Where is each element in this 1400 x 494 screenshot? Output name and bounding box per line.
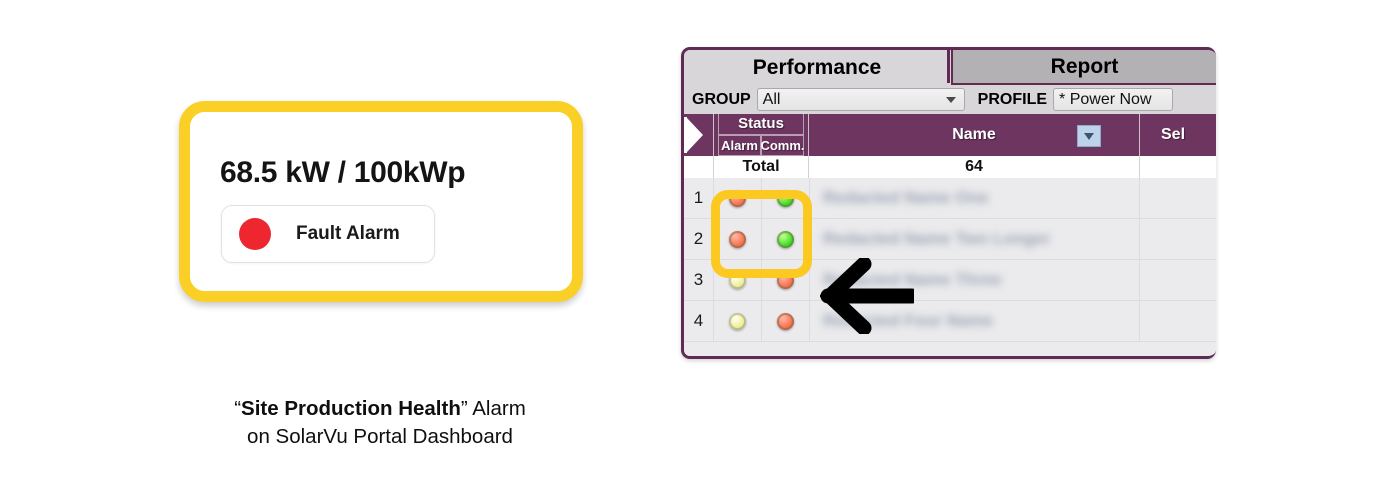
alarm-led-icon [729,190,746,207]
caption-left-suffix: Alarm [468,397,526,420]
site-name-redacted: Redacted Name One [823,188,988,208]
fault-alarm-label: Fault Alarm [296,223,400,245]
table-header-name[interactable]: Name [809,114,1140,156]
cell-comm-status[interactable] [762,219,810,259]
row-index: 1 [684,178,714,218]
group-label: GROUP [692,91,751,109]
profile-select[interactable]: * Power Now [1053,88,1173,111]
cell-alarm-status[interactable] [714,260,762,300]
portfolio-table: Status Alarm Comm. Name Sel Total 64 [684,114,1216,359]
group-select-value: All [763,91,781,109]
tab-strip: Performance Report [684,50,1216,85]
cell-alarm-status[interactable] [714,178,762,218]
enterprise-portfolio-figure: Performance Report GROUP All PROFILE * P… [700,0,1400,494]
comm-led-icon [777,231,794,248]
corner-flag-cell[interactable] [684,114,714,156]
cell-site-name[interactable]: Redacted Name One [809,178,1140,218]
comm-led-icon [777,313,794,330]
group-select[interactable]: All [757,88,965,111]
total-label: Total [714,156,809,178]
filter-bar: GROUP All PROFILE * Power Now [684,85,1216,114]
caption-left: “Site Production Health” Alarm on SolarV… [80,395,680,451]
cell-select[interactable] [1140,260,1216,300]
cell-select[interactable] [1140,301,1216,341]
solarvu-dashboard-figure: 68.5 kW / 100kWp Fault Alarm “Site Produ… [0,0,700,494]
chevron-down-icon [946,97,956,103]
total-count: 64 [809,156,1140,178]
name-filter-button[interactable] [1077,125,1101,147]
portfolio-panel: Performance Report GROUP All PROFILE * P… [681,47,1216,359]
power-readout: 68.5 kW / 100kWp [220,156,465,190]
alarm-led-icon [729,313,746,330]
site-name-redacted: Redacted Name Two Longer [823,229,1050,249]
chevron-down-icon [1084,133,1094,140]
cell-alarm-status[interactable] [714,301,762,341]
caption-right: “Site Production Health” Alarm on Enterp… [1348,395,1400,451]
caption-left-quoted: Site Production Health [241,397,461,420]
card-inner-surface: 68.5 kW / 100kWp Fault Alarm [190,112,572,291]
table-header-select[interactable]: Sel [1140,114,1216,156]
tab-performance[interactable]: Performance [688,50,946,85]
table-row[interactable]: 4 Redacted Four Name [684,301,1216,342]
table-row[interactable]: 1 Redacted Name One [684,178,1216,219]
site-production-health-card: 68.5 kW / 100kWp Fault Alarm [179,101,583,302]
tab-divider [947,50,950,83]
tab-report[interactable]: Report [951,50,1216,85]
cell-site-name[interactable]: Redacted Name Two Longer [809,219,1140,259]
cell-alarm-status[interactable] [714,219,762,259]
caption-left-line2: on SolarVu Portal Dashboard [247,425,513,448]
caption-left-line1: “Site Production Health” Alarm [234,397,526,420]
comm-led-icon [777,272,794,289]
table-header-alarm[interactable]: Alarm [718,135,761,156]
fault-alarm-chip[interactable]: Fault Alarm [221,205,435,263]
table-header-status: Status Alarm Comm. [714,114,809,156]
cell-comm-status[interactable] [762,178,810,218]
comm-led-icon [777,190,794,207]
row-index: 2 [684,219,714,259]
table-header-row: Status Alarm Comm. Name Sel [684,114,1216,156]
name-header-label: Name [952,126,996,144]
profile-label: PROFILE [978,91,1047,109]
callout-arrow-icon [820,258,914,334]
status-header-label: Status [714,115,808,132]
table-header-comm[interactable]: Comm. [761,135,804,156]
cell-select[interactable] [1140,178,1216,218]
table-total-row: Total 64 [684,156,1216,179]
flag-arrow-icon [684,117,704,153]
alarm-led-icon [729,272,746,289]
row-index: 3 [684,260,714,300]
cell-comm-status[interactable] [762,301,810,341]
alarm-led-icon [729,231,746,248]
red-alarm-led-icon [239,218,271,250]
profile-select-value: * Power Now [1059,91,1151,109]
table-row[interactable]: 2 Redacted Name Two Longer [684,219,1216,260]
table-row[interactable]: 3 Redacted Name Three [684,260,1216,301]
row-index: 4 [684,301,714,341]
cell-comm-status[interactable] [762,260,810,300]
cell-select[interactable] [1140,219,1216,259]
